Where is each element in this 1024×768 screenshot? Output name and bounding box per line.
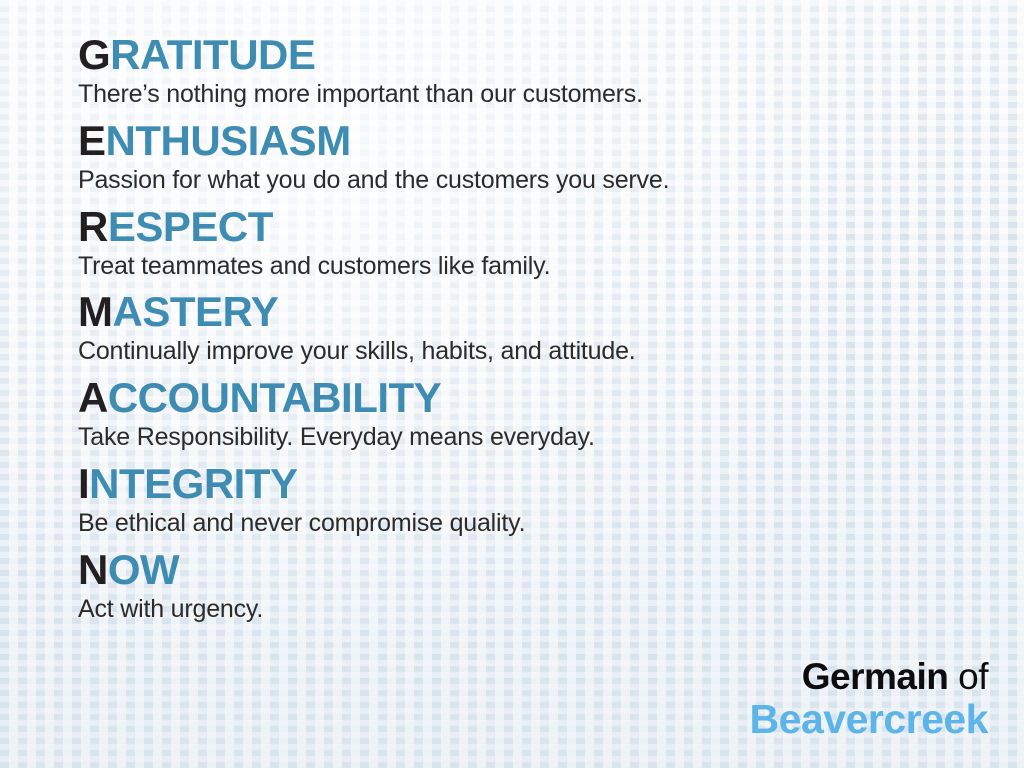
- value-heading-rest: ASTERY: [113, 288, 279, 335]
- value-description: Take Responsibility. Everyday means ever…: [78, 423, 958, 452]
- value-description: Continually improve your skills, habits,…: [78, 337, 958, 366]
- value-heading-rest: NTHUSIASM: [106, 117, 351, 164]
- logo-primary-line: Germain of: [750, 658, 988, 695]
- value-initial-letter: G: [78, 31, 110, 78]
- value-heading: MASTERY: [78, 291, 958, 333]
- core-values-list: GRATITUDE There’s nothing more important…: [78, 34, 958, 634]
- value-block-respect: RESPECT Treat teammates and customers li…: [78, 206, 958, 281]
- value-description: Be ethical and never compromise quality.: [78, 509, 958, 538]
- logo-brand-name: Germain: [802, 656, 949, 697]
- dealership-logo: Germain of Beavercreek: [750, 658, 988, 740]
- logo-location-name: Beavercreek: [750, 699, 988, 740]
- value-initial-letter: A: [78, 374, 108, 421]
- value-heading: GRATITUDE: [78, 34, 958, 76]
- value-block-enthusiasm: ENTHUSIASM Passion for what you do and t…: [78, 120, 958, 195]
- value-initial-letter: M: [78, 288, 113, 335]
- value-initial-letter: N: [78, 546, 108, 593]
- value-initial-letter: R: [78, 203, 108, 250]
- value-heading: ACCOUNTABILITY: [78, 377, 958, 419]
- value-heading-rest: CCOUNTABILITY: [108, 374, 441, 421]
- value-description: There’s nothing more important than our …: [78, 80, 958, 109]
- values-poster: GRATITUDE There’s nothing more important…: [0, 0, 1024, 768]
- value-heading-rest: RATITUDE: [110, 31, 315, 78]
- value-initial-letter: E: [78, 117, 106, 164]
- value-block-integrity: INTEGRITY Be ethical and never compromis…: [78, 463, 958, 538]
- value-description: Passion for what you do and the customer…: [78, 166, 958, 195]
- value-heading: INTEGRITY: [78, 463, 958, 505]
- value-description: Act with urgency.: [78, 595, 958, 624]
- value-heading-rest: ESPECT: [108, 203, 273, 250]
- value-heading-rest: OW: [108, 546, 179, 593]
- value-block-now: NOW Act with urgency.: [78, 549, 958, 624]
- value-initial-letter: I: [78, 460, 89, 507]
- value-heading: ENTHUSIASM: [78, 120, 958, 162]
- value-description: Treat teammates and customers like famil…: [78, 252, 958, 281]
- value-heading-rest: NTEGRITY: [89, 460, 297, 507]
- value-heading: RESPECT: [78, 206, 958, 248]
- logo-connector-word: of: [958, 656, 988, 697]
- value-block-accountability: ACCOUNTABILITY Take Responsibility. Ever…: [78, 377, 958, 452]
- value-block-mastery: MASTERY Continually improve your skills,…: [78, 291, 958, 366]
- value-heading: NOW: [78, 549, 958, 591]
- value-block-gratitude: GRATITUDE There’s nothing more important…: [78, 34, 958, 109]
